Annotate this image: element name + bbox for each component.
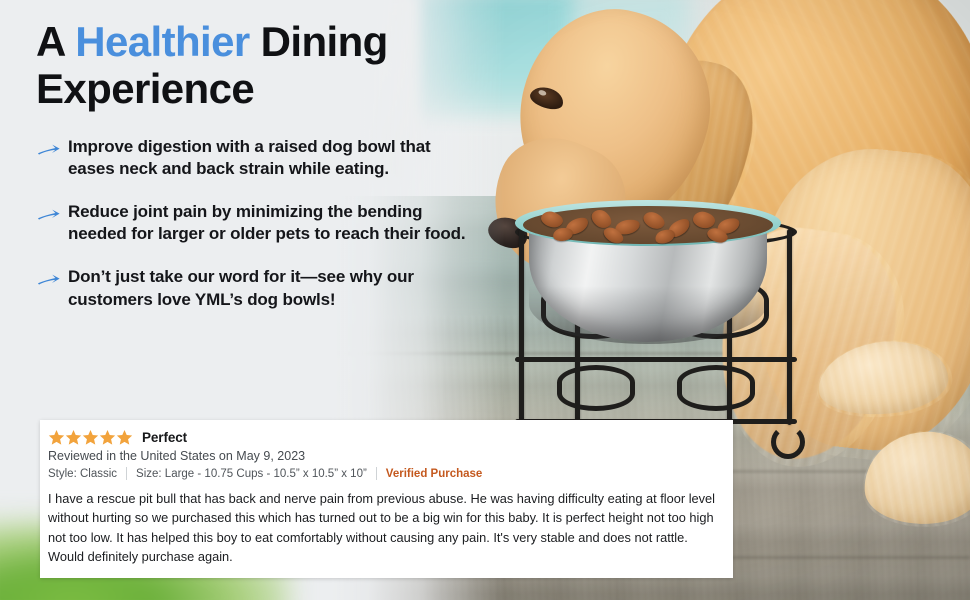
- list-item: Don’t just take our word for it—see why …: [36, 266, 500, 310]
- review-header: Perfect: [48, 429, 719, 446]
- star-icon: [65, 429, 82, 446]
- star-icon: [82, 429, 99, 446]
- verified-purchase-badge: Verified Purchase: [386, 468, 483, 480]
- review-size-value: Size: Large - 10.75 Cups - 10.5” x 10.5”…: [136, 468, 367, 480]
- review-title: Perfect: [142, 430, 187, 445]
- arrow-right-icon: [36, 140, 62, 160]
- star-icon: [48, 429, 65, 446]
- review-attributes: Style: Classic Size: Large - 10.75 Cups …: [48, 467, 719, 480]
- list-item: Reduce joint pain by minimizing the bend…: [36, 201, 500, 245]
- list-item-label: Reduce joint pain by minimizing the bend…: [68, 201, 468, 245]
- list-item-label: Don’t just take our word for it—see why …: [68, 266, 468, 310]
- review-style-value: Style: Classic: [48, 468, 117, 480]
- benefits-list: Improve digestion with a raised dog bowl…: [36, 136, 500, 311]
- divider: [126, 467, 127, 480]
- headline-part-1: A: [36, 18, 75, 65]
- list-item: Improve digestion with a raised dog bowl…: [36, 136, 500, 180]
- arrow-right-icon: [36, 270, 62, 290]
- star-icon: [116, 429, 133, 446]
- copy-column: A Healthier Dining Experience Improve di…: [0, 0, 500, 332]
- list-item-label: Improve digestion with a raised dog bowl…: [68, 136, 468, 180]
- review-body-text: I have a rescue pit bull that has back a…: [48, 489, 719, 567]
- arrow-right-icon: [36, 205, 62, 225]
- page-title: A Healthier Dining Experience: [36, 18, 486, 112]
- star-rating[interactable]: [48, 429, 133, 446]
- banner-stage: A Healthier Dining Experience Improve di…: [0, 0, 970, 600]
- star-icon: [99, 429, 116, 446]
- review-meta: Reviewed in the United States on May 9, …: [48, 449, 719, 463]
- customer-review-card: Perfect Reviewed in the United States on…: [40, 420, 733, 578]
- divider: [376, 467, 377, 480]
- headline-accent-word: Healthier: [75, 18, 249, 65]
